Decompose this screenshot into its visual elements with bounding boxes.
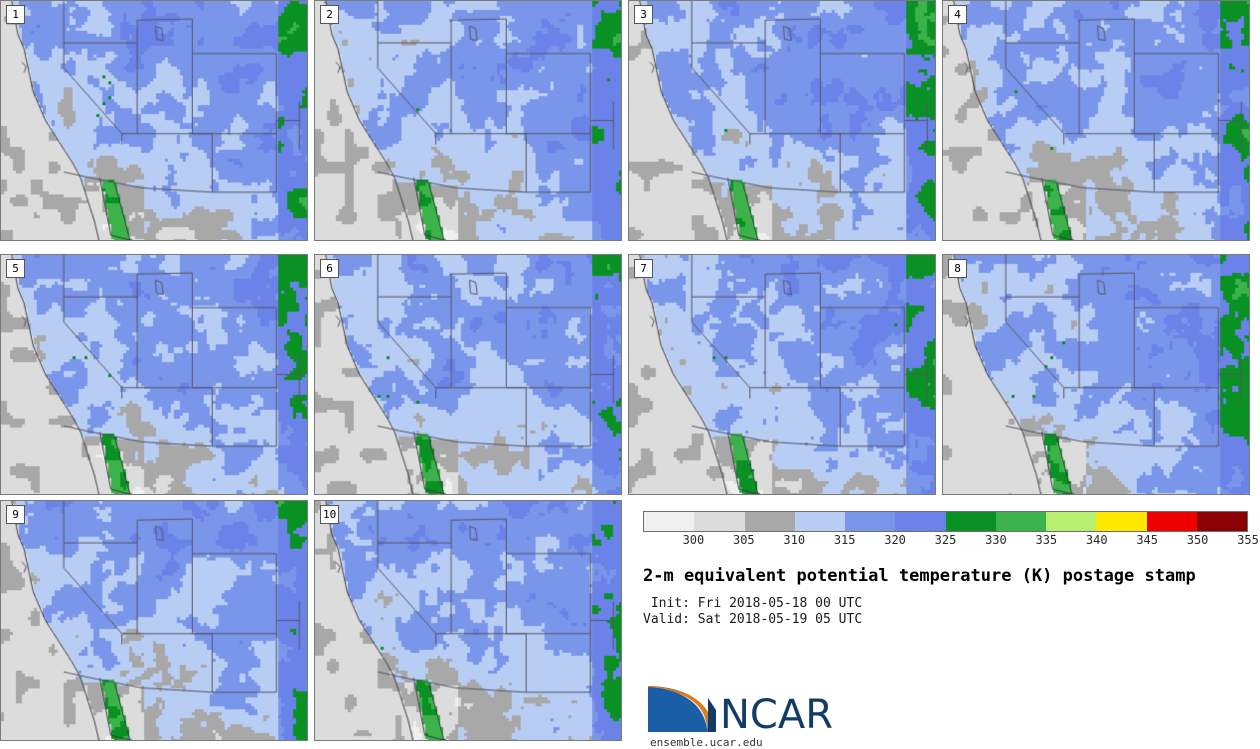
member-map-2 [315,1,621,240]
member-map-10 [315,501,621,740]
page-title: 2-m equivalent potential temperature (K)… [643,566,1253,586]
colorbar-band-10 [1147,512,1197,531]
stamp-panel-1[interactable]: 1 [0,0,308,241]
colorbar-tick-335: 335 [1035,533,1057,548]
panel-number-8: 8 [948,259,967,278]
member-map-7 [629,255,935,494]
member-map-5 [1,255,307,494]
stamp-panel-7[interactable]: 7 [628,254,936,495]
panel-number-3: 3 [634,5,653,24]
stamp-panel-4[interactable]: 4 [942,0,1250,241]
legend-area: 300305310315320325330335340345350355 2-m… [628,500,1260,746]
member-map-6 [315,255,621,494]
member-map-8 [943,255,1249,494]
member-map-9 [1,501,307,740]
colorbar-tick-345: 345 [1136,533,1158,548]
panel-number-7: 7 [634,259,653,278]
colorbar-band-5 [895,512,945,531]
colorbar-tick-labels: 300305310315320325330335340345350355 [643,533,1248,549]
colorbar-tick-355: 355 [1237,533,1259,548]
colorbar-tick-315: 315 [834,533,856,548]
colorbar-band-2 [745,512,795,531]
colorbar-tick-350: 350 [1187,533,1209,548]
stamp-panel-9[interactable]: 9 [0,500,308,741]
colorbar-band-6 [946,512,996,531]
colorbar-tick-300: 300 [683,533,705,548]
colorbar-tick-330: 330 [985,533,1007,548]
valid-time-label: Valid: Sat 2018-05-19 05 UTC [643,612,1253,628]
stamp-panel-3[interactable]: 3 [628,0,936,241]
colorbar-band-7 [996,512,1046,531]
panel-number-10: 10 [320,505,339,524]
colorbar [643,511,1248,532]
panel-number-2: 2 [320,5,339,24]
panel-number-4: 4 [948,5,967,24]
stamp-panel-6[interactable]: 6 [314,254,622,495]
colorbar-band-9 [1096,512,1146,531]
ncar-url-label: ensemble.ucar.edu [650,736,763,749]
panel-number-1: 1 [6,5,25,24]
panel-number-6: 6 [320,259,339,278]
panel-number-5: 5 [6,259,25,278]
ncar-logo: NCAR [646,678,846,740]
stamp-panel-5[interactable]: 5 [0,254,308,495]
stamp-panel-10[interactable]: 10 [314,500,622,741]
stamp-panel-2[interactable]: 2 [314,0,622,241]
member-map-3 [629,1,935,240]
colorbar-band-0 [644,512,694,531]
member-map-4 [943,1,1249,240]
colorbar-band-3 [795,512,845,531]
colorbar-tick-320: 320 [884,533,906,548]
member-map-1 [1,1,307,240]
title-block: 2-m equivalent potential temperature (K)… [643,566,1253,628]
colorbar-band-4 [845,512,895,531]
panel-number-9: 9 [6,505,25,524]
stamp-panel-8[interactable]: 8 [942,254,1250,495]
colorbar-tick-305: 305 [733,533,755,548]
init-time-label: Init: Fri 2018-05-18 00 UTC [643,596,1253,612]
colorbar-band-8 [1046,512,1096,531]
colorbar-tick-340: 340 [1086,533,1108,548]
colorbar-tick-325: 325 [935,533,957,548]
colorbar-band-11 [1197,512,1247,531]
colorbar-band-1 [694,512,744,531]
colorbar-tick-310: 310 [783,533,805,548]
ncar-wordmark: NCAR [720,692,833,738]
